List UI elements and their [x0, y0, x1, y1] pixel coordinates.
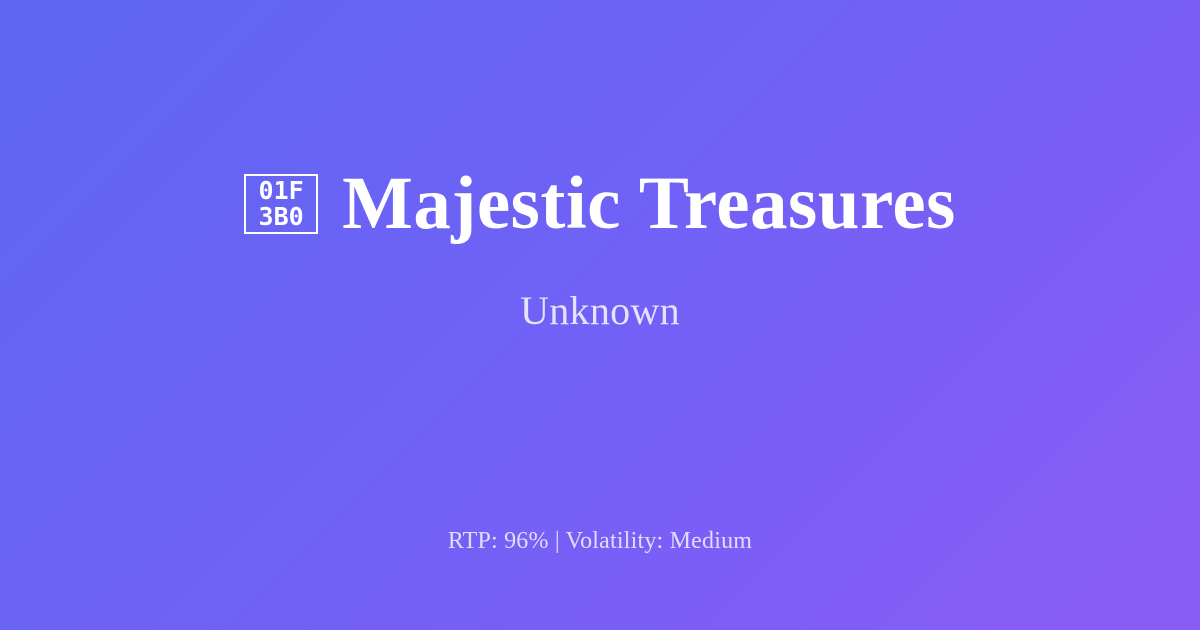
title-row: 01F 3B0 Majestic Treasures	[244, 166, 956, 241]
card-subtitle: Unknown	[520, 287, 680, 334]
tofu-codepoint-line-1: 01F	[259, 178, 304, 204]
card-footer-stats: RTP: 96% | Volatility: Medium	[0, 528, 1200, 555]
page-title: Majestic Treasures	[342, 166, 956, 241]
open-graph-card: 01F 3B0 Majestic Treasures Unknown RTP: …	[0, 0, 1200, 630]
tofu-codepoint-line-2: 3B0	[259, 204, 304, 230]
slot-machine-icon: 01F 3B0	[244, 174, 318, 234]
card-main-content: 01F 3B0 Majestic Treasures Unknown	[0, 0, 1200, 500]
